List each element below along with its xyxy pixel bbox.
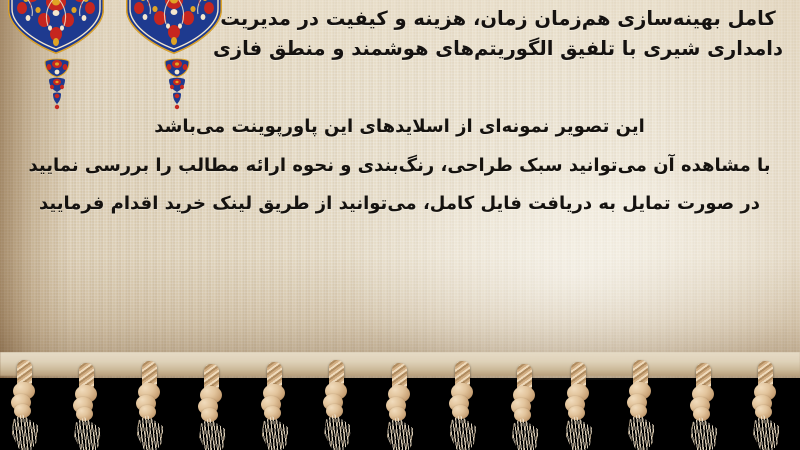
persian-pendant-icon-left xyxy=(40,58,74,110)
carpet-fringe-tassel xyxy=(4,360,50,450)
carpet-fringe-tassel xyxy=(254,362,300,450)
slide-title: کامل بهینه‌سازی هم‌زمان زمان، هزینه و کی… xyxy=(208,4,788,64)
carpet-fringe-tassel xyxy=(504,364,550,450)
slide-body-line-3: در صورت تمایل به دریافت فایل کامل، می‌تو… xyxy=(17,185,782,224)
carpet-fringe-tassel xyxy=(745,361,791,450)
slide-canvas: کامل بهینه‌سازی هم‌زمان زمان، هزینه و کی… xyxy=(0,0,800,450)
persian-pendant-icon-right xyxy=(160,58,194,110)
carpet-fringe-tassel xyxy=(558,362,604,450)
slide-body-line-2: با مشاهده آن می‌توانید سبک طراحی، رنگ‌بن… xyxy=(17,147,782,186)
slide-title-line-2: دامداری شیری با تلفیق الگوریتم‌های هوشمن… xyxy=(213,37,783,60)
carpet-fringe-tassel xyxy=(683,363,729,450)
carpet-fringe-tassel xyxy=(620,360,666,450)
persian-medallion-icon-left xyxy=(8,0,104,54)
slide-body: این تصویر نمونه‌ای از اسلایدهای این پاور… xyxy=(17,108,782,224)
carpet-fringe-tassel xyxy=(442,361,488,450)
carpet-fringe-tassel xyxy=(129,361,175,450)
carpet-fringe xyxy=(0,352,800,450)
carpet-fringe-tassel xyxy=(379,363,425,450)
carpet-fringe-tassel xyxy=(191,364,237,450)
carpet-fringe-tassel xyxy=(316,360,362,450)
slide-body-line-1: این تصویر نمونه‌ای از اسلایدهای این پاور… xyxy=(17,108,782,147)
slide-title-line-1: کامل بهینه‌سازی هم‌زمان زمان، هزینه و کی… xyxy=(220,7,776,30)
carpet-fringe-tassel xyxy=(66,363,112,450)
